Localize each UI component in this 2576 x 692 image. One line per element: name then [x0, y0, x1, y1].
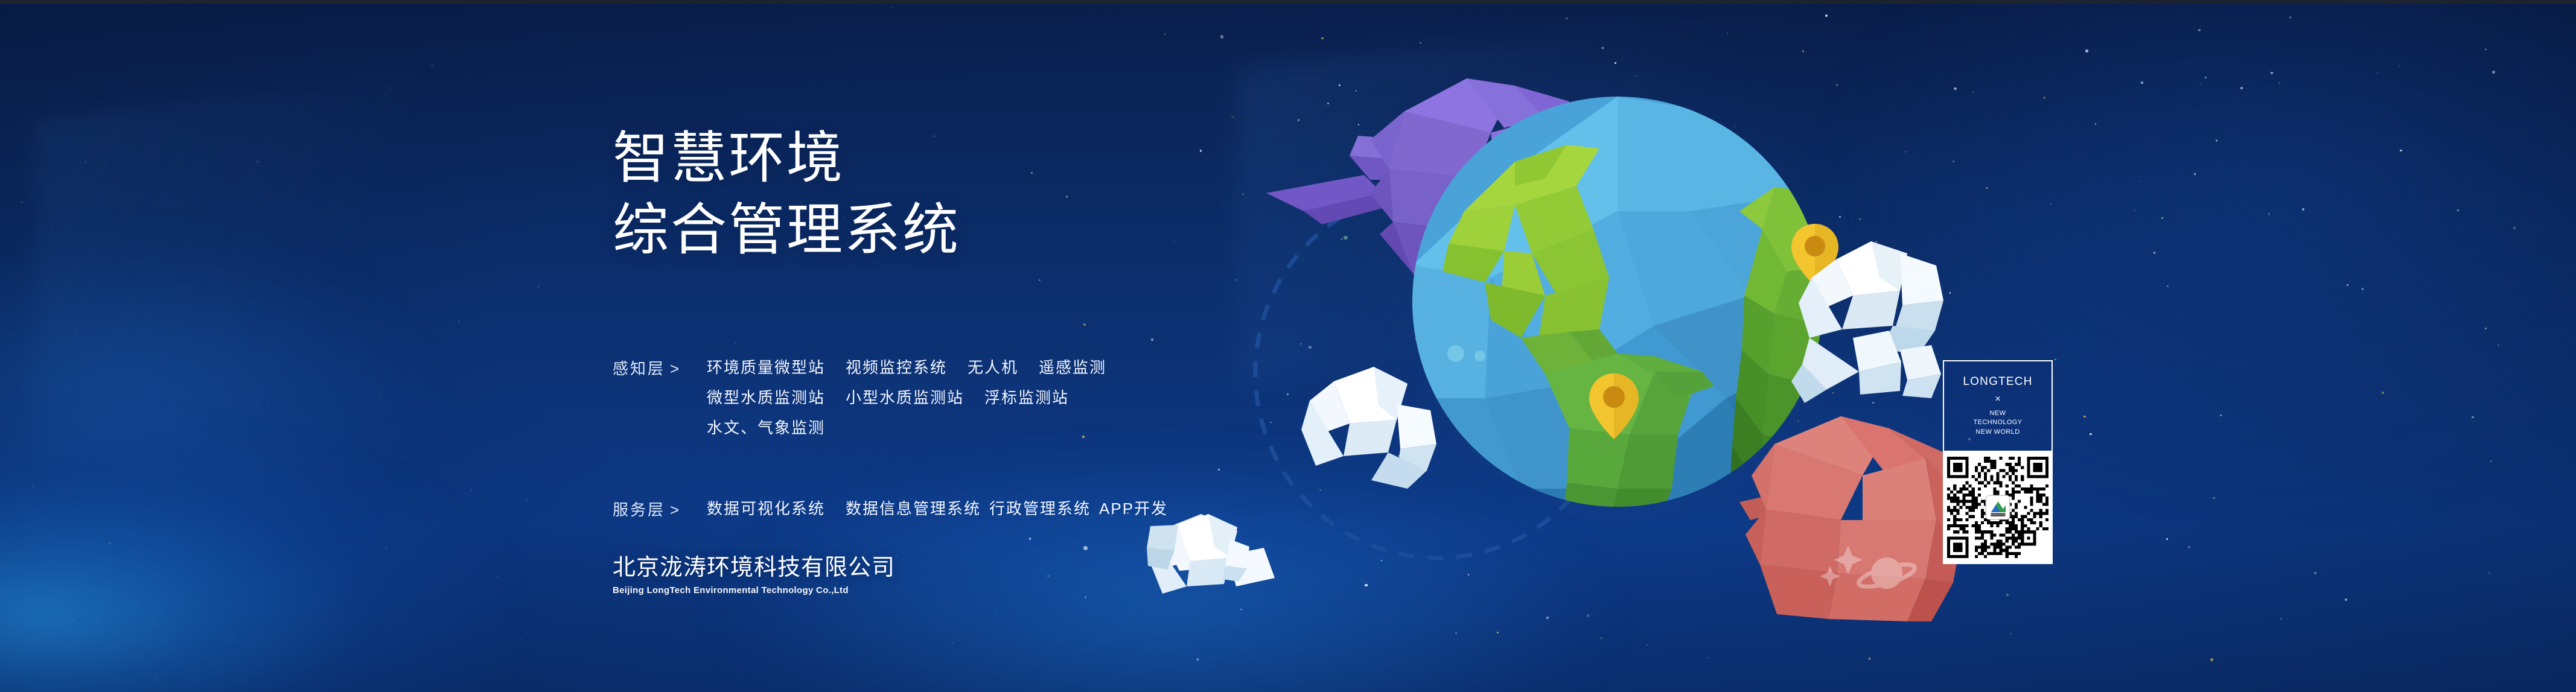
company-signature: 北京泷涛环境科技有限公司 Beijing LongTech Environmen… [613, 555, 895, 595]
star-dot [1411, 119, 1412, 121]
star-dot [1823, 285, 1825, 287]
star-dot [1937, 530, 1939, 532]
star-dot [1873, 603, 1875, 605]
star-dot [1468, 574, 1470, 576]
star-dot [1511, 348, 1515, 352]
star-dot [2302, 208, 2304, 211]
star-dot [1231, 116, 1234, 118]
star-dot [1725, 403, 1727, 405]
layer-item[interactable]: 浮标监测站 [984, 383, 1069, 413]
star-dot [1490, 329, 1491, 331]
star-dot [2055, 359, 2056, 360]
layer-item[interactable]: APP开发 [1099, 494, 1168, 524]
star-dot [2278, 82, 2280, 84]
star-dot [2167, 285, 2169, 287]
chevron-right-icon: > [670, 360, 681, 378]
star-dot [32, 486, 34, 487]
star-dot [1825, 14, 1828, 17]
star-dot [1587, 614, 1590, 617]
star-dot [497, 576, 499, 578]
star-dot [1953, 160, 1954, 162]
layer-label-perception[interactable]: 感知层> [613, 353, 690, 384]
star-dot [1839, 216, 1841, 218]
star-dot [1615, 62, 1616, 63]
star-dot [151, 661, 153, 663]
star-dot [1950, 292, 1951, 294]
layer-item[interactable]: 无人机 [968, 353, 1018, 383]
star-dot [1901, 605, 1902, 606]
star-dot [1620, 171, 1622, 173]
star-dot [84, 162, 86, 163]
layer-list: 感知层> 环境质量微型站 视频监控系统 无人机 遥感监测 微型水质监测站 小型水… [613, 353, 1458, 525]
star-dot [2498, 344, 2499, 346]
star-dot [386, 548, 387, 549]
star-dot [1617, 195, 1621, 198]
qr-tagline: NEW TECHNOLOGY NEW WORLD [1973, 409, 2022, 437]
star-dot [2513, 227, 2516, 229]
star-dot [470, 489, 473, 492]
star-dot [2006, 594, 2009, 596]
star-dot [1586, 422, 1588, 424]
star-dot [1676, 286, 1679, 288]
star-dot [1760, 246, 1762, 248]
star-dot [537, 285, 540, 288]
star-dot [76, 329, 78, 331]
star-dot [896, 556, 897, 557]
star-dot [1506, 410, 1508, 413]
qr-tagline-line-1: NEW [1973, 409, 2022, 419]
star-dot [1235, 279, 1237, 281]
star-dot [1083, 546, 1087, 550]
star-dot [1600, 637, 1602, 640]
star-dot [2377, 72, 2378, 74]
star-dot [1571, 343, 1573, 344]
star-dot [21, 202, 23, 203]
qr-code-container[interactable] [1943, 451, 2053, 564]
star-dot [1151, 338, 1153, 341]
star-dot [1300, 343, 1302, 345]
star-dot [2485, 49, 2487, 51]
layer-line: 环境质量微型站 视频监控系统 无人机 遥感监测 [707, 353, 1106, 383]
layer-items-service: 数据可视化系统 数据信息管理系统 行政管理系统 APP开发 [707, 494, 1168, 524]
company-name-cn: 北京泷涛环境科技有限公司 [613, 555, 895, 582]
star-dot [456, 346, 457, 348]
star-dot [2280, 618, 2282, 620]
star-dot [2010, 633, 2012, 635]
star-dot [2345, 598, 2347, 601]
star-dot [1047, 575, 1050, 577]
star-dot [1641, 398, 1643, 400]
star-dot [1832, 392, 1834, 393]
star-dot [1889, 457, 1890, 459]
star-dot [1640, 166, 1642, 168]
star-dot [1972, 92, 1974, 94]
qr-tagline-line-3: NEW WORLD [1973, 428, 2022, 437]
star-dot [231, 639, 233, 641]
qr-promo-card: LONGTECH × NEW TECHNOLOGY NEW WORLD [1943, 360, 2053, 564]
layer-item[interactable]: 微型水质监测站 [707, 383, 825, 413]
star-dot [1803, 540, 1805, 542]
star-dot [1321, 37, 1324, 40]
top-edge-strip [0, 0, 2576, 4]
layer-item[interactable]: 水文、气象监测 [707, 413, 825, 443]
headline-line-2: 综合管理系统 [613, 192, 1397, 268]
star-dot [2134, 209, 2135, 211]
star-dot [1497, 632, 1499, 633]
star-dot [2050, 203, 2052, 205]
star-dot [1327, 103, 1329, 104]
star-dot [1029, 538, 1031, 540]
headline-line-1: 智慧环境 [613, 121, 1397, 196]
company-name-en: Beijing LongTech Environmental Technolog… [613, 585, 895, 595]
star-dot [2314, 572, 2316, 574]
headline-block: 智慧环境 综合管理系统 [613, 121, 1397, 267]
star-dot [2220, 414, 2221, 416]
star-dot [1876, 241, 1878, 243]
star-dot [1858, 352, 1861, 355]
layer-item[interactable]: 数据可视化系统 [707, 494, 825, 524]
star-dot [2090, 433, 2092, 436]
layer-label-service[interactable]: 服务层> [613, 494, 690, 525]
star-dot [2289, 16, 2292, 19]
star-dot [1566, 17, 1568, 20]
star-dot [2472, 416, 2473, 418]
star-dot [71, 620, 74, 622]
cross-icon: × [1995, 394, 2000, 405]
star-dot [1872, 402, 1874, 404]
qr-card-header: LONGTECH × NEW TECHNOLOGY NEW WORLD [1943, 360, 2053, 451]
star-dot [266, 103, 268, 105]
star-dot [2362, 288, 2364, 290]
star-dot [1455, 632, 1457, 634]
qr-tagline-line-2: TECHNOLOGY [1973, 418, 2022, 428]
star-dot [1727, 33, 1729, 34]
star-dot [1734, 125, 1735, 127]
star-dot [2194, 173, 2196, 175]
star-dot [1355, 90, 1357, 92]
star-dot [521, 639, 523, 641]
star-dot [2139, 180, 2140, 182]
chevron-right-icon: > [670, 501, 681, 519]
star-dot [2085, 49, 2088, 52]
star-dot [1869, 658, 1871, 660]
star-dot [2205, 77, 2207, 78]
layer-items-perception: 环境质量微型站 视频监控系统 无人机 遥感监测 微型水质监测站 小型水质监测站 … [707, 353, 1106, 443]
layer-label-perception-text: 感知层 [613, 360, 665, 378]
star-dot [1238, 623, 1239, 624]
star-dot [1085, 596, 1086, 598]
star-dot [1707, 657, 1708, 658]
star-dot [1805, 561, 1807, 563]
star-dot [2485, 328, 2487, 329]
star-dot [1309, 346, 1312, 349]
star-dot [2095, 123, 2097, 125]
star-dot [2161, 217, 2164, 220]
layer-item[interactable]: 行政管理系统 [989, 494, 1091, 524]
star-dot [1039, 279, 1041, 281]
star-dot [526, 500, 528, 501]
layer-line: 微型水质监测站 小型水质监测站 浮标监测站 [707, 383, 1106, 413]
star-dot [1836, 84, 1838, 86]
layer-label-service-text: 服务层 [613, 501, 665, 519]
star-dot [1797, 420, 1799, 422]
star-dot [257, 160, 259, 163]
star-dot [1860, 218, 1861, 220]
star-dot [2268, 213, 2271, 215]
star-dot [2141, 81, 2143, 84]
layer-row-service: 服务层> 数据可视化系统 数据信息管理系统 行政管理系统 APP开发 [613, 494, 1458, 525]
star-dot [458, 320, 460, 322]
star-dot [891, 7, 892, 8]
star-dot [431, 65, 433, 67]
star-dot [1220, 35, 1223, 38]
star-dot [1934, 309, 1936, 311]
star-dot [1197, 658, 1199, 661]
star-dot [1802, 50, 1805, 52]
star-dot [1544, 347, 1546, 349]
star-dot [1602, 47, 1604, 49]
star-dot [1083, 323, 1086, 326]
star-dot [2200, 83, 2201, 84]
star-dot [2347, 284, 2348, 286]
star-dot [1415, 338, 1417, 340]
star-dot [389, 87, 391, 89]
star-dot [1420, 42, 1421, 44]
star-dot [2399, 65, 2400, 66]
layer-item[interactable]: 数据信息管理系统 [846, 494, 981, 524]
star-dot [952, 642, 954, 644]
star-dot [1459, 225, 1461, 227]
hero-banner: 智慧环境 综合管理系统 感知层> 环境质量微型站 视频监控系统 无人机 遥感监测… [0, 0, 2576, 692]
star-dot [735, 342, 736, 344]
star-dot [1546, 617, 1549, 619]
star-dot [2488, 572, 2490, 574]
star-dot [1922, 511, 1924, 513]
star-dot [2382, 392, 2384, 394]
star-dot [2490, 460, 2492, 462]
star-dot [2083, 416, 2085, 417]
layer-item[interactable]: 遥感监测 [1039, 353, 1106, 383]
star-dot [2457, 209, 2460, 212]
star-dot [1986, 187, 1988, 189]
star-dot [2240, 87, 2243, 89]
star-dot [647, 300, 649, 302]
star-dot [2213, 497, 2215, 500]
star-dot [1693, 270, 1694, 271]
star-dot [2154, 252, 2156, 254]
layer-item[interactable]: 小型水质监测站 [846, 383, 964, 413]
star-dot [1560, 431, 1561, 433]
star-dot [2216, 139, 2217, 141]
layer-item[interactable]: 视频监控系统 [846, 353, 947, 383]
star-dot [1339, 84, 1341, 86]
layer-row-perception: 感知层> 环境质量微型站 视频监控系统 无人机 遥感监测 微型水质监测站 小型水… [613, 353, 1458, 443]
star-dot [2492, 71, 2495, 74]
qr-code-icon[interactable] [1947, 457, 2048, 558]
layer-item[interactable]: 环境质量微型站 [707, 353, 825, 383]
star-dot [2271, 72, 2273, 74]
layer-line: 水文、气象监测 [707, 413, 1106, 443]
star-dot [1954, 87, 1957, 90]
star-dot [150, 4, 151, 6]
star-dot [2210, 658, 2213, 661]
star-dot [2166, 538, 2168, 540]
star-dot [2188, 546, 2190, 548]
star-dot [996, 612, 998, 614]
star-dot [151, 623, 153, 624]
star-dot [348, 279, 350, 281]
star-dot [1910, 372, 1911, 373]
star-dot [109, 542, 110, 544]
star-dot [2198, 29, 2201, 31]
layer-line: 数据可视化系统 数据信息管理系统 行政管理系统 APP开发 [707, 494, 1168, 524]
star-dot [1634, 75, 1636, 77]
star-dot [155, 678, 156, 679]
star-dot [1164, 34, 1165, 35]
star-dot [1647, 644, 1648, 646]
qr-brand-name: LONGTECH [1963, 375, 2032, 389]
star-dot [2400, 150, 2402, 151]
star-dot [1905, 151, 1907, 153]
star-dot [2043, 97, 2045, 99]
